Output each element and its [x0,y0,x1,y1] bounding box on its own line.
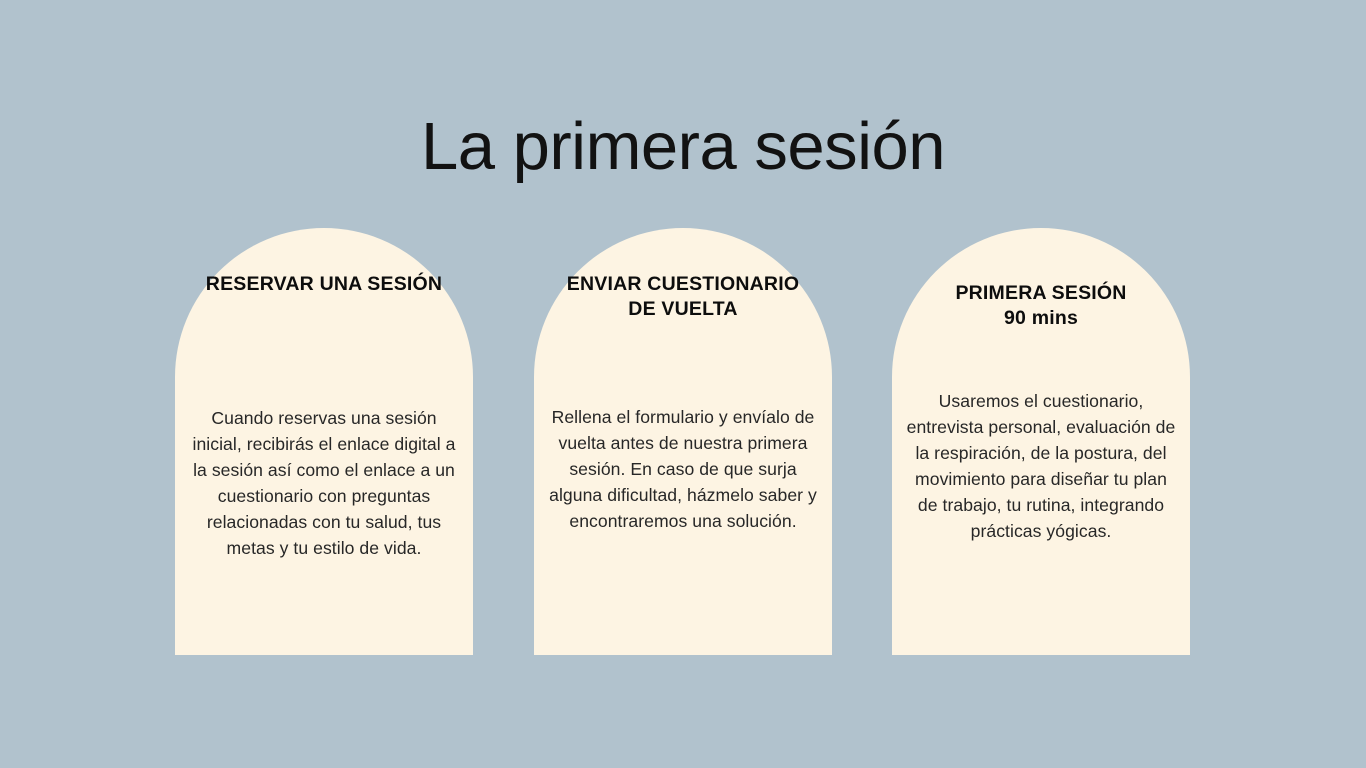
card-body-text: Rellena el formulario y envíalo de vuelt… [548,404,818,534]
arch-card-primera-sesion: PRIMERA SESIÓN90 mins Usaremos el cuesti… [892,228,1190,655]
card-heading: PRIMERA SESIÓN90 mins [910,281,1172,331]
arch-card-group: RESERVAR UNA SESIÓN Cuando reservas una … [0,0,1366,768]
card-heading: ENVIAR CUESTIONARIO DE VUELTA [552,272,814,322]
card-body-text: Usaremos el cuestionario, entrevista per… [906,388,1176,544]
card-heading: RESERVAR UNA SESIÓN [193,272,455,297]
arch-card-enviar-cuestionario-de-vuelta: ENVIAR CUESTIONARIO DE VUELTA Rellena el… [534,228,832,655]
slide-canvas: La primera sesión RESERVAR UNA SESIÓN Cu… [0,0,1366,768]
card-body-text: Cuando reservas una sesión inicial, reci… [189,405,459,561]
arch-card-reservar-una-sesion: RESERVAR UNA SESIÓN Cuando reservas una … [175,228,473,655]
